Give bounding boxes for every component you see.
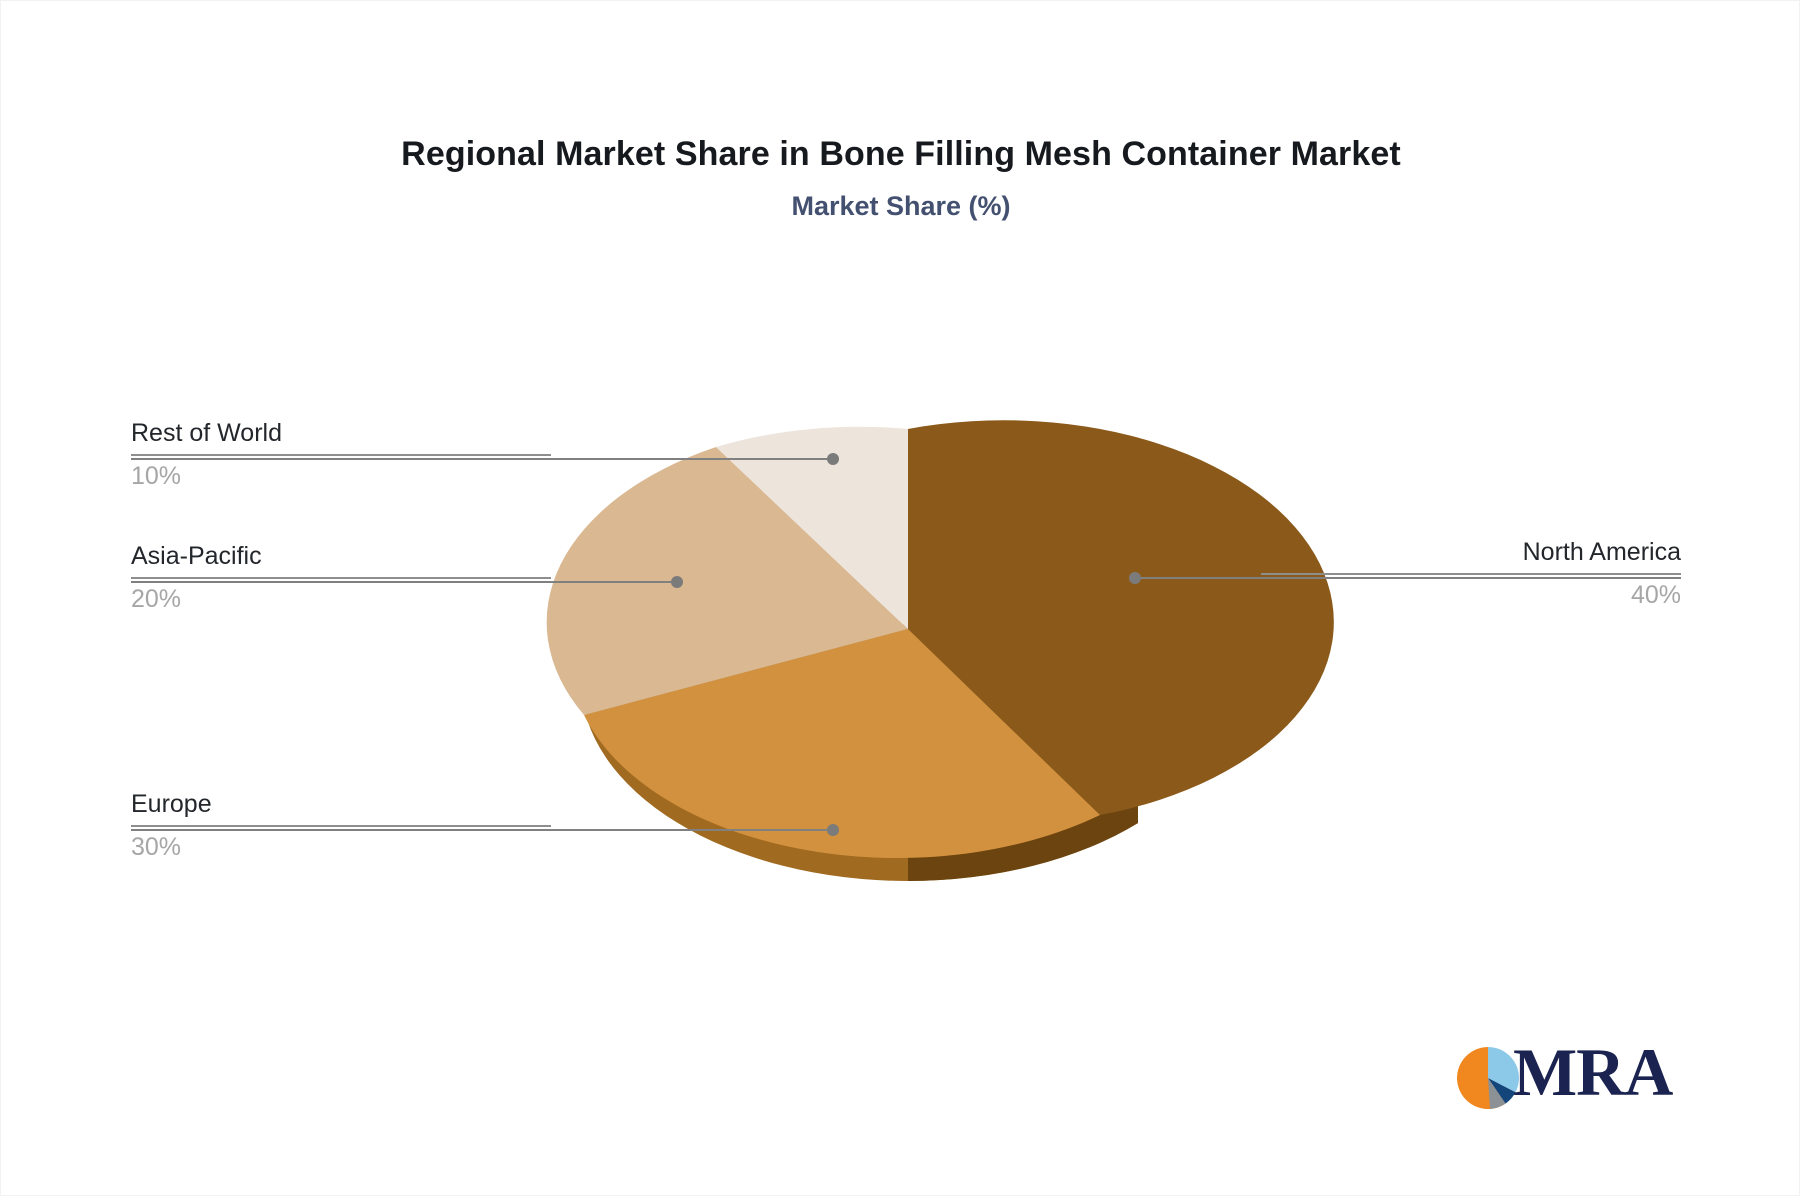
callout-rule-north-america (1261, 573, 1681, 575)
callout-asia-pacific[interactable]: Asia-Pacific 20% (131, 540, 551, 615)
callout-value-asia-pacific: 20% (131, 583, 551, 615)
chart-canvas: Regional Market Share in Bone Filling Me… (0, 0, 1800, 1196)
callout-value-north-america: 40% (1261, 579, 1681, 611)
callout-label-rest-of-world: Rest of World (131, 417, 551, 449)
mra-logo: MRA (1453, 1041, 1703, 1115)
callout-rule-asia-pacific (131, 577, 551, 579)
callout-europe[interactable]: Europe 30% (131, 788, 551, 863)
leader-dot-rest-of-world (827, 453, 839, 465)
callout-label-north-america: North America (1261, 536, 1681, 568)
callout-value-europe: 30% (131, 831, 551, 863)
mra-logo-text: MRA (1513, 1035, 1672, 1109)
pie-chart: Rest of World 10% Asia-Pacific 20% Europ… (1, 1, 1800, 1196)
leader-dot-north-america (1129, 572, 1141, 584)
callout-label-europe: Europe (131, 788, 551, 820)
callout-rule-rest-of-world (131, 454, 551, 456)
callout-rule-europe (131, 825, 551, 827)
pie-top-surface (547, 420, 1334, 858)
leader-dot-asia-pacific (671, 576, 683, 588)
leader-dot-europe (827, 824, 839, 836)
callout-north-america[interactable]: North America 40% (1261, 536, 1681, 611)
callout-value-rest-of-world: 10% (131, 460, 551, 492)
callout-label-asia-pacific: Asia-Pacific (131, 540, 551, 572)
callout-rest-of-world[interactable]: Rest of World 10% (131, 417, 551, 492)
